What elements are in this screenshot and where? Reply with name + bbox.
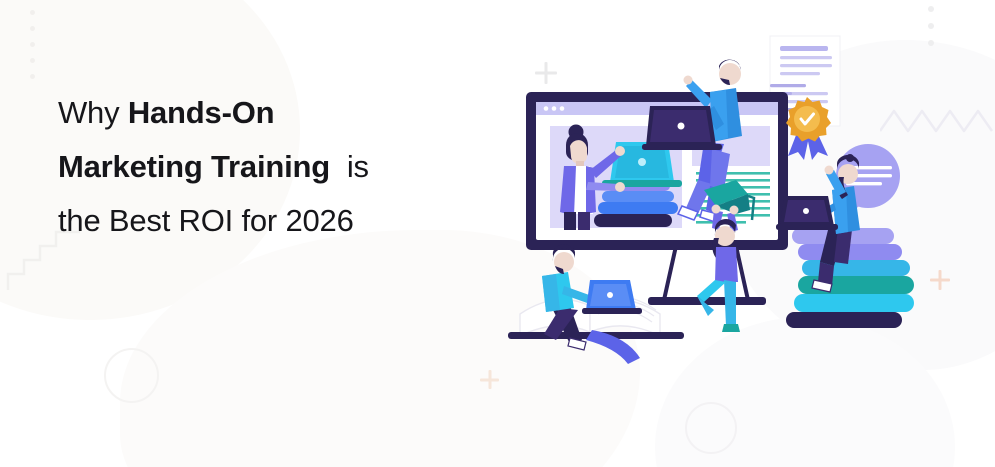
article-hero-banner: Why Hands-On Marketing Training is the B… bbox=[0, 0, 995, 467]
headline-line1-prefix: Why bbox=[58, 95, 128, 130]
man-on-book-with-laptop bbox=[542, 244, 642, 364]
headline-line-2: Marketing Training is bbox=[58, 140, 478, 194]
headline-line1-bold: Hands-On bbox=[128, 95, 275, 130]
decorative-circle-left bbox=[104, 348, 159, 403]
decorative-plus-icon-peach-left bbox=[480, 370, 499, 389]
decorative-dots-right bbox=[928, 6, 934, 46]
page-title: Why Hands-On Marketing Training is the B… bbox=[58, 86, 478, 248]
headline-line-1: Why Hands-On bbox=[58, 86, 478, 140]
headline-line2-suffix: is bbox=[330, 149, 369, 184]
elearning-illustration bbox=[498, 14, 918, 364]
headline-line2-bold: Marketing Training bbox=[58, 149, 330, 184]
decorative-circle-bottom bbox=[685, 402, 737, 454]
decorative-dots-left bbox=[30, 10, 35, 79]
headline-line-3: the Best ROI for 2026 bbox=[58, 194, 478, 248]
decorative-plus-icon-peach-right bbox=[930, 270, 950, 290]
